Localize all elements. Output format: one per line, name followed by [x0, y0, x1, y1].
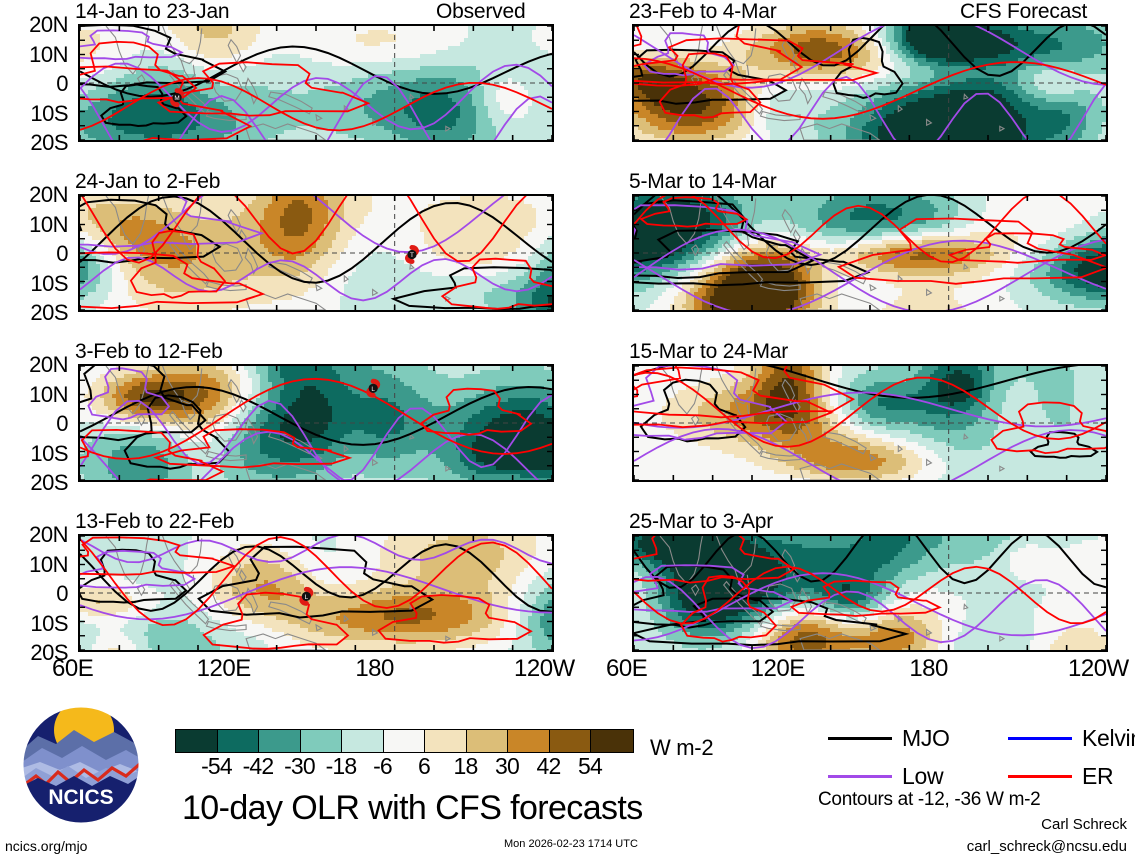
y-axis-tick-label: 20S [0, 130, 68, 156]
x-axis-tick-label: 180 [909, 655, 948, 683]
column-kind-label-observed: Observed [436, 0, 525, 24]
plot-area-p4[interactable]: L [78, 534, 554, 652]
colorbar-swatch-1 [218, 730, 260, 752]
legend-line-kelvin-x2 [1008, 737, 1072, 740]
plot-area-p5[interactable] [632, 24, 1108, 142]
panel-title-p4: 13-Feb to 22-Feb [75, 510, 234, 534]
logo-text: NCICS [48, 786, 113, 809]
y-axis-tick-label: 10N [0, 212, 68, 238]
legend-label-mjo: MJO [902, 725, 950, 752]
y-axis-tick-label: 0 [0, 581, 68, 607]
contour-note: Contours at -12, -36 W m-2 [818, 789, 1040, 811]
x-axis-tick-label: 60E [52, 655, 93, 683]
panel-title-p1: 14-Jan to 23-Jan [75, 0, 229, 24]
y-axis-tick-label: 20N [0, 12, 68, 38]
panel-title-p3: 3-Feb to 12-Feb [75, 340, 223, 364]
colorbar-swatch-8 [508, 730, 550, 752]
y-axis-tick-label: 10N [0, 552, 68, 578]
svg-text:L: L [371, 386, 375, 393]
plot-area-p7[interactable] [632, 364, 1108, 482]
colorbar-unit-label: W m-2 [650, 735, 713, 761]
y-axis-tick-label: 10S [0, 271, 68, 297]
y-axis-tick-label: 0 [0, 71, 68, 97]
colorbar-swatch-9 [550, 730, 592, 752]
y-axis-tick-label: 20N [0, 522, 68, 548]
panel-title-p6: 5-Mar to 14-Mar [629, 170, 777, 194]
y-axis-tick-label: 0 [0, 241, 68, 267]
colorbar-swatch-5 [384, 730, 426, 752]
colorbar [175, 729, 634, 753]
legend-line-er [1008, 775, 1072, 778]
panel-title-p2: 24-Jan to 2-Feb [75, 170, 220, 194]
ncics-logo-svg: NCICS [22, 706, 140, 824]
plot-area-p2[interactable]: T [78, 194, 554, 312]
page-title: 10-day OLR with CFS forecasts [182, 789, 643, 828]
colorbar-swatch-10 [591, 730, 633, 752]
y-axis-tick-label: 20N [0, 352, 68, 378]
legend-label-er: ER [1082, 763, 1113, 790]
colorbar-tick-label: 54 [560, 753, 620, 780]
x-axis-tick-label: 120E [751, 655, 805, 683]
colorbar-swatch-6 [425, 730, 467, 752]
colorbar-swatch-0 [176, 730, 218, 752]
panel-title-p5: 23-Feb to 4-Mar [629, 0, 777, 24]
x-axis-tick-label: 120W [514, 655, 575, 683]
y-axis-tick-label: 0 [0, 411, 68, 437]
svg-text:M: M [174, 95, 179, 102]
colorbar-swatch-7 [467, 730, 509, 752]
svg-text:T: T [410, 252, 414, 259]
panel-title-p7: 15-Mar to 24-Mar [629, 340, 788, 364]
legend-line-mjo [828, 737, 892, 740]
panel-title-p8: 25-Mar to 3-Apr [629, 510, 773, 534]
y-axis-tick-label: 10S [0, 441, 68, 467]
legend-line-low [828, 775, 892, 778]
y-axis-tick-label: 20S [0, 300, 68, 326]
ncics-logo: NCICS [22, 706, 140, 824]
y-axis-tick-label: 10N [0, 42, 68, 68]
x-axis-tick-label: 60E [606, 655, 647, 683]
colorbar-swatch-4 [342, 730, 384, 752]
plot-area-p3[interactable]: L [78, 364, 554, 482]
legend-label-kelvin-x2: Kelvin x2 [1082, 725, 1135, 752]
colorbar-swatch-3 [301, 730, 343, 752]
y-axis-tick-label: 10N [0, 382, 68, 408]
author-name: Carl Schreck [1041, 816, 1127, 833]
site-url: ncics.org/mjo [5, 838, 87, 854]
plot-area-p1[interactable]: M [78, 24, 554, 142]
plot-area-p6[interactable] [632, 194, 1108, 312]
y-axis-tick-label: 20S [0, 470, 68, 496]
x-axis-tick-label: 120E [197, 655, 251, 683]
column-kind-label-forecast: CFS Forecast [960, 0, 1087, 24]
timestamp: Mon 2026-02-23 1714 UTC [504, 838, 638, 850]
author-email: carl_schreck@ncsu.edu [967, 838, 1127, 855]
y-axis-tick-label: 10S [0, 611, 68, 637]
svg-text:L: L [305, 594, 309, 601]
x-axis-tick-label: 180 [355, 655, 394, 683]
plot-area-p8[interactable] [632, 534, 1108, 652]
colorbar-swatch-2 [259, 730, 301, 752]
figure-canvas: 14-Jan to 23-JanObserved20N10N010S20SM24… [0, 0, 1135, 860]
y-axis-tick-label: 20N [0, 182, 68, 208]
y-axis-tick-label: 10S [0, 101, 68, 127]
legend-label-low: Low [902, 763, 943, 790]
x-axis-tick-label: 120W [1068, 655, 1129, 683]
